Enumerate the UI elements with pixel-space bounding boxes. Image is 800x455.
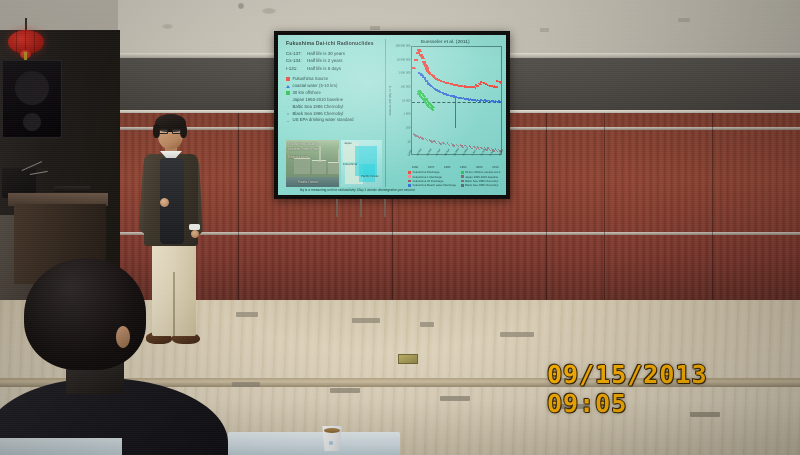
circle-open-icon: ○ [286, 112, 290, 116]
air-vent-icon [678, 18, 690, 22]
y-tick-label: 10 [407, 140, 410, 143]
chart-data-point [500, 82, 502, 84]
isotope-text: Half life is 2 years [307, 58, 343, 63]
floor-plate [420, 322, 434, 327]
square-green-icon [461, 171, 464, 174]
audience-member [0, 258, 250, 455]
air-vent-icon [370, 26, 380, 30]
dot-maroon-icon [408, 180, 411, 183]
isotope-text: Half life is 30 years [307, 51, 345, 56]
legend-label: Japan 1965-2010 baseline [293, 97, 344, 104]
legend-label: US EPA drinking water standard [293, 117, 354, 124]
legend-item: Fukushima Source [286, 76, 382, 83]
square-red-icon [408, 171, 411, 174]
eyeglasses-icon [159, 129, 181, 134]
circle-open-icon [461, 184, 464, 187]
plant-caption-line2: Nuclear Power Plant [288, 147, 319, 151]
audience-table [228, 432, 400, 455]
chart-legend-item: Fukushima Discharge [408, 170, 456, 174]
chart-legend-label: Japan 1965-2010 baseline [465, 175, 498, 179]
x-year-label: 2000 [476, 165, 482, 169]
chart-data-point [436, 143, 437, 144]
dot-small-icon: · [286, 98, 290, 102]
slide-content: Fukushima Dai-ichi Radionuclides Cs-137:… [278, 35, 506, 195]
x-year-label: 1960 [412, 165, 418, 169]
chart-data-point [453, 145, 454, 146]
chart-data-point [471, 148, 472, 149]
wall-speaker [2, 60, 62, 138]
panel-seam [546, 113, 547, 305]
chart-vertical-marker [455, 96, 456, 128]
y-tick-label: 100 000 [401, 85, 411, 88]
camera-timestamp: 09/15/2013 09:05 [547, 360, 800, 418]
chart-data-point [480, 84, 482, 86]
legend-item: · Japan 1965-2010 baseline [286, 97, 382, 104]
projection-screen: Fukushima Dai-ichi Radionuclides Cs-137:… [274, 31, 510, 199]
dot-small-icon [461, 180, 464, 183]
chart-data-point [445, 144, 446, 145]
plant-caption-reactors: Reactor Units [288, 155, 309, 159]
isotope-label: Cs-137: [286, 50, 307, 57]
nuclear-plant-photo: Fukushima Dai-ichiNuclear Power Plant Re… [286, 140, 339, 187]
plant-caption: Fukushima Dai-ichiNuclear Power Plant [288, 142, 319, 151]
chart-data-point [416, 59, 418, 61]
square-green-icon [286, 91, 290, 95]
x-year-label: 2010 [492, 165, 498, 169]
y-tick-label: 100 000 000 [395, 45, 410, 48]
chart-plot-area [411, 46, 502, 155]
hand-right [191, 230, 199, 238]
floor-plate [440, 396, 470, 401]
chart-data-point [496, 86, 498, 88]
plant-caption-ocean: Pacific Ocean [298, 180, 318, 184]
isotope-text: Half life is 8 days [307, 66, 341, 71]
chart-legend-item: Fukushima 30 Discharge [408, 179, 456, 183]
triangle-blue-icon [408, 184, 411, 187]
x-year-label: 1970 [428, 165, 434, 169]
chart-legend-item: Fukushima 1 Discharge [408, 175, 456, 179]
chart-panel: Buesseler et al. (2011) Cesium-137 (Bq m… [385, 39, 502, 187]
legend-label: Black Sea 1986 Chernobyl [293, 111, 344, 118]
chart-data-point [414, 68, 416, 70]
chart-data-point [433, 107, 435, 109]
halflife-cs134: Cs-134:Half life is 2 years [286, 57, 382, 64]
x-year-label: 1980 [444, 165, 450, 169]
y-tick-label: 1 000 [404, 113, 411, 116]
legend-label: Fukushima Source [293, 76, 329, 83]
y-tick-label: 10 000 000 [397, 58, 410, 61]
chart-data-point [427, 140, 428, 141]
audience-ear [116, 326, 130, 348]
chart-legend-label: 30 km offshore sample set A [465, 170, 500, 174]
legend-label: coastal water (5-10 km) [293, 83, 338, 90]
halflife-i131: I-131:Half life is 8 days [286, 65, 382, 72]
chart-legend-label: Fukushima 30 Discharge [413, 179, 444, 183]
legend-item: 30 km offshore [286, 90, 382, 97]
screen-support-legs [330, 199, 390, 217]
chart-legend-item: 30 km offshore sample set A [461, 170, 500, 174]
slide-title: Fukushima Dai-ichi Radionuclides [286, 41, 382, 47]
chart-legend-label: Fukushima 1 Discharge [413, 175, 442, 179]
legend-label: 30 km offshore [293, 90, 321, 97]
legend-label: Baltic Sea 1986 Chernobyl [293, 104, 344, 111]
laptop-device [54, 186, 90, 192]
chart-data-point [440, 143, 441, 144]
halflife-cs137: Cs-137:Half life is 30 years [286, 50, 382, 57]
recessed-light-icon [262, 8, 276, 14]
square-red-icon [286, 77, 290, 81]
chart-data-point [497, 151, 498, 152]
photograph-lecture-hall: Fukushima Dai-ichi Radionuclides Cs-137:… [0, 0, 800, 455]
recessed-light-icon [162, 24, 173, 29]
audience-table-left [0, 438, 122, 455]
map-label-north: Japan [344, 141, 352, 145]
y-tick-label: 1 000 000 [398, 72, 410, 75]
panel-seam [604, 113, 605, 305]
floor-plate [330, 388, 360, 393]
chart-data-point [479, 149, 480, 150]
map-label-sea: Pacific Ocean [361, 174, 379, 178]
panel-seam [712, 113, 713, 305]
brass-floor-outlet [398, 354, 418, 364]
dot-pink-icon [408, 175, 411, 178]
chart-data-point [462, 147, 463, 148]
hair-side-right [180, 124, 187, 138]
slide-images: Fukushima Dai-ichiNuclear Power Plant Re… [286, 140, 382, 187]
chart-legend-column-left: Fukushima DischargeFukushima 1 Discharge… [408, 170, 456, 187]
chart-legend-item: Baltic Sea 1986 Chernobyl [461, 179, 500, 183]
y-tick-label: 100 [406, 126, 410, 129]
chart-legend-column-right: 30 km offshore sample set AJapan 1965-20… [461, 170, 500, 187]
x-year-label: 1990 [460, 165, 466, 169]
chart-data-point [432, 109, 434, 111]
audience-head [24, 258, 146, 370]
legend-item: ○ Black Sea 1986 Chernobyl [286, 111, 382, 118]
dot-small-icon [461, 175, 464, 178]
plant-caption-line1: Fukushima Dai-ichi [288, 142, 317, 146]
slide-legend: Fukushima Source coastal water (5-10 km)… [286, 76, 382, 125]
legend-item: coastal water (5-10 km) [286, 83, 382, 90]
chart-data-point [422, 138, 423, 139]
chart-data-point [477, 85, 479, 87]
region-map-image: Japan Fukushima Pacific Ocean [341, 140, 382, 187]
chart-legend: Fukushima DischargeFukushima 1 Discharge… [388, 169, 502, 187]
floor-plate [500, 332, 534, 337]
chart-legend-label: Fukushima Discharge [413, 170, 440, 174]
chart-legend-label: Baltic Sea 1986 Chernobyl [465, 179, 498, 183]
chart-data-point [500, 101, 502, 103]
map-label-site: Fukushima [343, 162, 357, 166]
isotope-label: Cs-134: [286, 57, 307, 64]
chart-data-point [449, 145, 450, 146]
chart-y-axis: 100 000 00010 000 0001 000 000100 00010 … [392, 46, 411, 155]
cup-logo [329, 441, 333, 445]
y-tick-label: 10 000 [402, 99, 410, 102]
triangle-blue-icon [286, 85, 290, 88]
chart-legend-item: Japan 1965-2010 baseline [461, 175, 500, 179]
sprinkler-icon [238, 3, 244, 9]
air-vent-icon [540, 28, 549, 32]
legend-item: · Baltic Sea 1986 Chernobyl [286, 104, 382, 111]
chart-data-point [423, 58, 425, 60]
cup-liquid [324, 428, 340, 433]
isotope-label: I-131: [286, 65, 307, 72]
chart-data-point [475, 87, 477, 89]
legend-item: -- US EPA drinking water standard [286, 117, 382, 124]
dashed-line-icon: -- [286, 119, 290, 123]
chart-x-axis: 1-Mar15-Mar29-Mar12-Apr26-Apr10-May24-Ma… [407, 155, 502, 169]
floor-plate [352, 318, 380, 323]
slide-footnote: Bq is a measuring unit for radioactivity… [282, 187, 502, 193]
dot-small-icon: · [286, 105, 290, 109]
hand-left [160, 198, 169, 207]
